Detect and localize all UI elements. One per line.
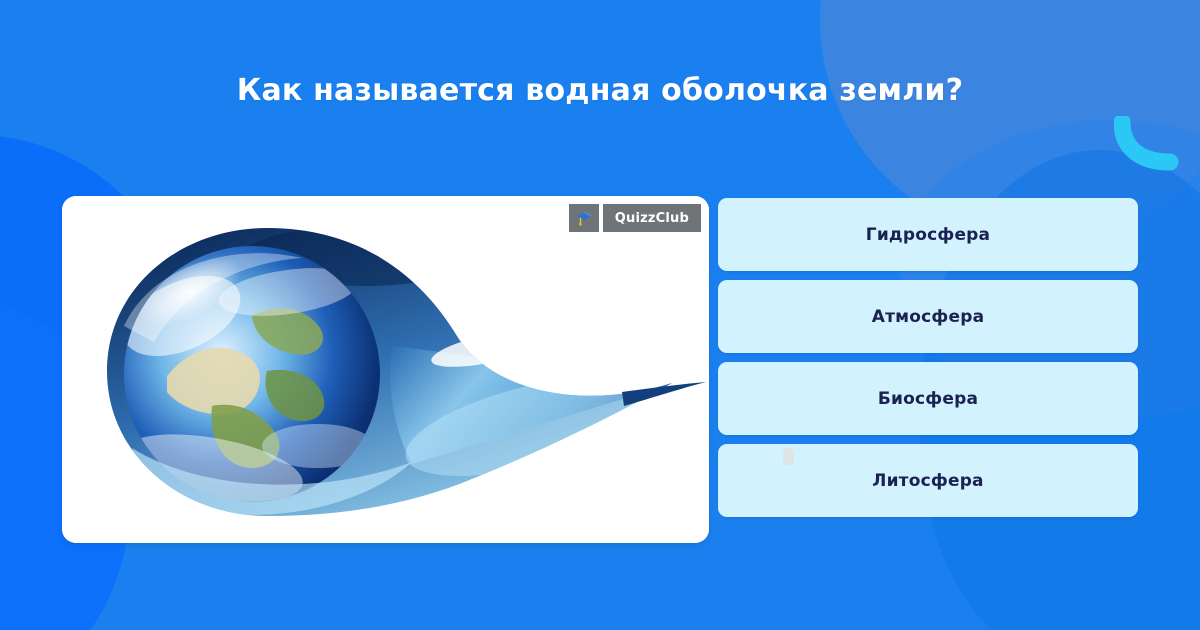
answer-option-2-label: Атмосфера [872,307,985,327]
water-droplet-earth-image [62,196,709,543]
watermark-label: QuizzClub [603,204,701,232]
answer-option-3[interactable]: Биосфера [718,362,1138,435]
page-title: Как называется водная оболочка земли? [0,72,1200,110]
answer-option-3-label: Биосфера [878,389,978,409]
watermark-logo: QuizzClub [569,204,701,232]
graduation-cap-icon [569,204,599,232]
answer-options-list: Гидросфера Атмосфера Биосфера Литосфера [718,198,1138,517]
answer-option-4-label: Литосфера [872,471,983,491]
swoosh-icon [1114,116,1184,172]
scroll-handle-nub[interactable] [783,448,794,465]
answer-option-4[interactable]: Литосфера [718,444,1138,517]
question-image-card: QuizzClub [62,196,709,543]
answer-option-1[interactable]: Гидросфера [718,198,1138,271]
quiz-card-stage: Как называется водная оболочка земли? [0,0,1200,630]
answer-option-2[interactable]: Атмосфера [718,280,1138,353]
answer-option-1-label: Гидросфера [866,225,990,245]
